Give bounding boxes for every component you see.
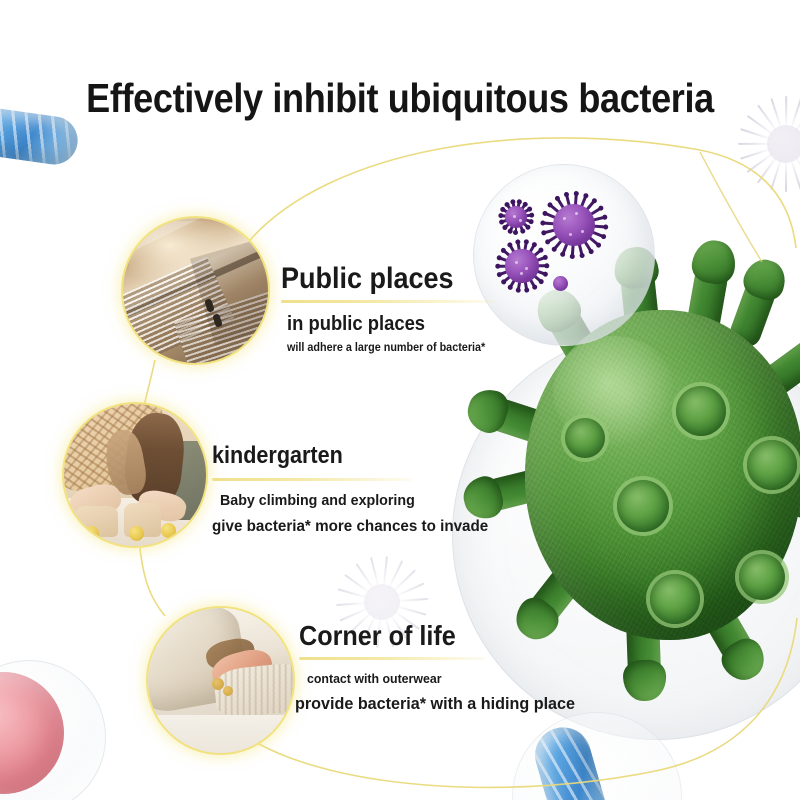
photo-escalator[interactable]	[123, 218, 268, 363]
virus-spike	[684, 258, 730, 341]
photo-escalator-image	[123, 218, 268, 363]
photo-baby-playing-image	[64, 404, 206, 546]
photo-baby-playing[interactable]	[64, 404, 206, 546]
heading-underline	[281, 300, 495, 303]
section-line-2: give bacteria* more chances to invade	[212, 518, 488, 536]
connector-accent-right	[700, 152, 762, 262]
pink-cell-halo	[0, 660, 106, 800]
purple-virus-icon	[496, 240, 548, 292]
virus-receptor-ring	[676, 386, 726, 436]
virus-receptor-ring	[747, 440, 797, 490]
page-title: Effectively inhibit ubiquitous bacteria	[48, 75, 752, 122]
virus-receptor-ring	[739, 554, 785, 600]
section-line-2: provide bacteria* with a hiding place	[295, 694, 575, 714]
virus-spike	[759, 331, 800, 398]
section-corner-of-life: Corner of life contact with outerwear pr…	[299, 620, 590, 714]
virus-spike	[769, 477, 800, 529]
purple-virus-icon	[499, 200, 533, 234]
section-line-1: in public places	[287, 313, 481, 336]
pink-cell-icon	[0, 672, 64, 794]
photo-pillows-bedding-image	[148, 608, 293, 753]
connector-arc-top	[250, 138, 796, 248]
virus-receptor-ring	[617, 480, 669, 532]
photo-pillows-bedding[interactable]	[148, 608, 293, 753]
virus-spike	[626, 609, 661, 682]
virus-spike	[727, 273, 780, 349]
section-line-1: contact with outerwear	[307, 671, 576, 686]
section-kindergarten: kindergarten Baby climbing and exploring…	[212, 442, 503, 536]
section-heading: Corner of life	[299, 620, 561, 652]
section-heading: kindergarten	[212, 442, 474, 470]
virus-spike	[696, 593, 759, 670]
purple-virus-icon	[552, 275, 569, 292]
section-line-1: Baby climbing and exploring	[220, 492, 489, 509]
bubble-gloss	[506, 183, 585, 237]
heading-underline	[299, 657, 485, 660]
infographic-poster: Effectively inhibit ubiquitous bacteria …	[0, 0, 800, 800]
heading-underline	[212, 478, 412, 481]
virus-body	[525, 310, 800, 640]
section-heading: Public places	[281, 262, 476, 296]
virus-spike	[619, 264, 661, 341]
virus-spike	[543, 301, 608, 380]
connector-circle2-to-circle3	[140, 548, 165, 616]
blue-rod-halo	[512, 712, 682, 800]
virus-receptor-ring	[565, 418, 605, 458]
section-public-places: Public places in public places will adhe…	[281, 262, 498, 354]
virus-spike	[481, 394, 558, 447]
small-bubble	[473, 164, 655, 346]
blue-rod-bacteria-icon	[528, 721, 617, 800]
virus-receptor-ring	[650, 574, 700, 624]
purple-virus-icon	[541, 192, 607, 258]
section-line-2: will adhere a large number of bacteria*	[287, 342, 485, 354]
